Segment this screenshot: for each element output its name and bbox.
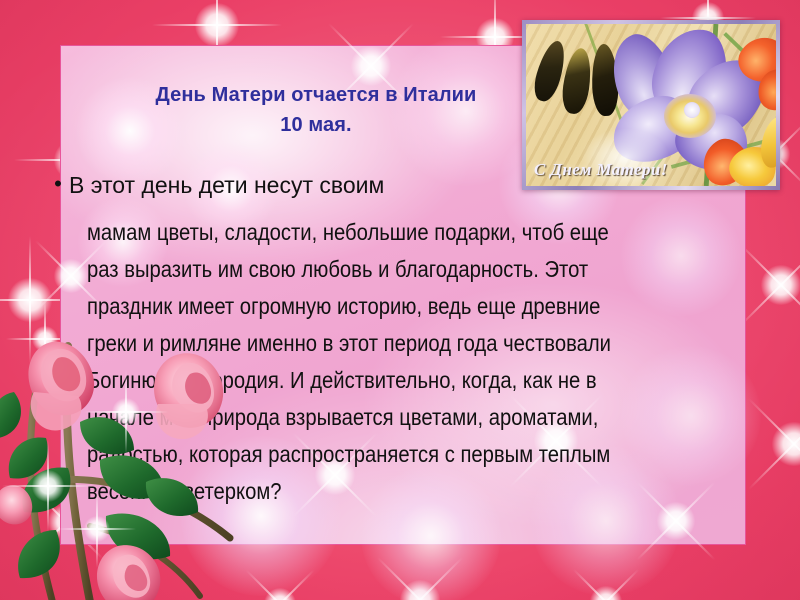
body-line: мамам цветы, сладости, небольшие подарки… — [87, 214, 800, 251]
roses-decoration — [0, 330, 284, 600]
photo-stamen — [684, 102, 700, 118]
greeting-photo: С Днем Матери! — [522, 20, 780, 190]
sparkle-star — [541, 537, 671, 600]
title-line-2: 10 мая. — [81, 110, 551, 140]
slide-title: День Матери отчается в Италии 10 мая. — [81, 80, 551, 140]
rose-bloom — [28, 342, 94, 431]
body-line: раз выразить им свою любовь и благодарно… — [87, 251, 800, 288]
title-line-1: День Матери отчается в Италии — [156, 84, 477, 106]
photo-caption: С Днем Матери! — [534, 160, 668, 180]
body-line: праздник имеет огромную историю, ведь ещ… — [87, 288, 800, 325]
roses-illustration — [0, 330, 284, 600]
bullet-marker: • — [47, 169, 69, 199]
slide-canvas: День Матери отчается в Италии 10 мая. • … — [0, 0, 800, 600]
rose-bloom — [154, 353, 223, 439]
bullet-lead-text: В этот день дети несут своим — [69, 169, 384, 201]
